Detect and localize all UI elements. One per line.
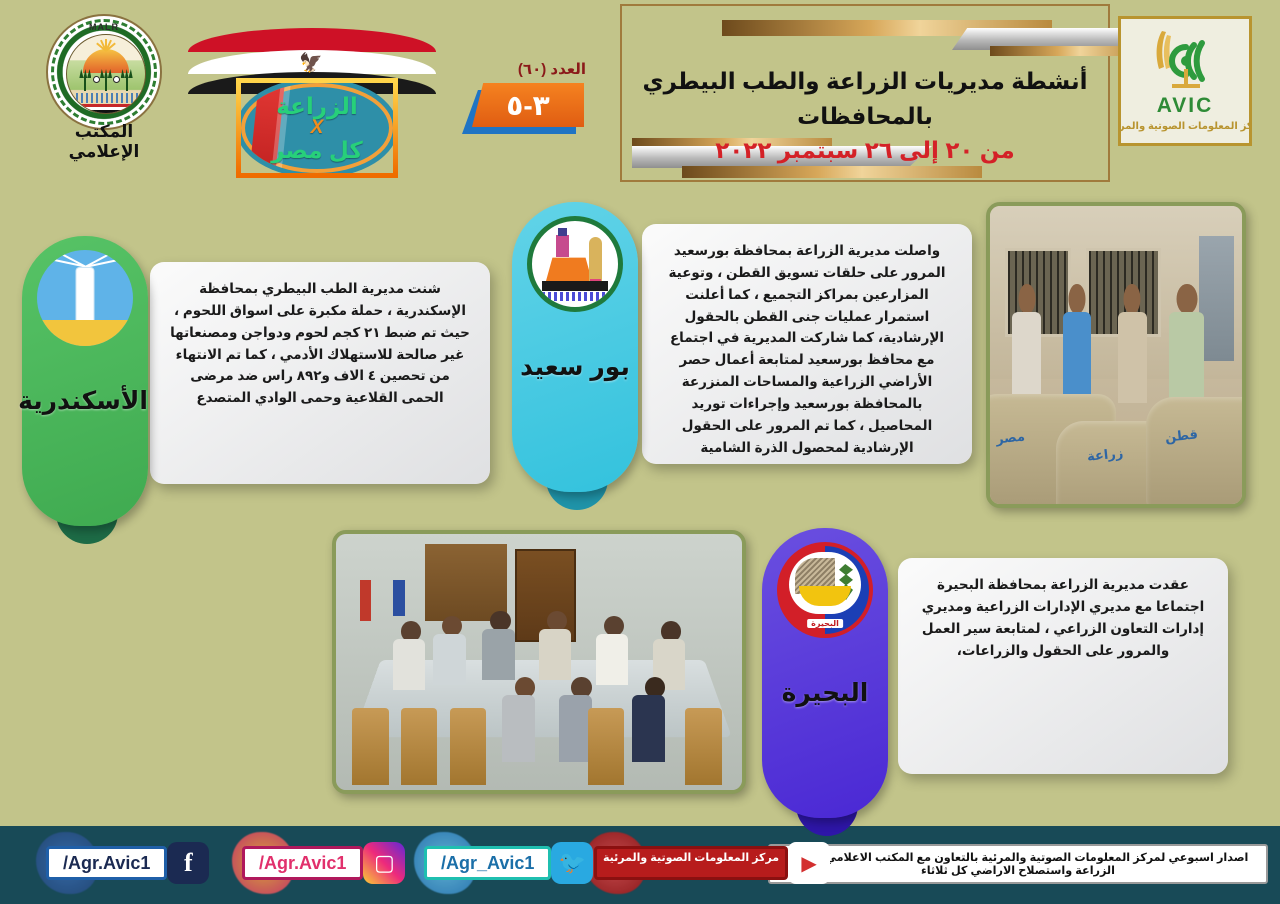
- gold-bar-decoration: [682, 166, 982, 178]
- title-line-main: أنشطة مديريات الزراعة والطب البيطري بالم…: [636, 64, 1094, 133]
- facebook-icon[interactable]: f: [167, 842, 209, 884]
- attendee-figure: [596, 634, 628, 685]
- person-figure: [1061, 284, 1094, 403]
- crest-label: البحيرة: [807, 619, 843, 628]
- social-link-youtube[interactable]: ▶ مركز المعلومات الصوتية والمرئية: [600, 840, 830, 886]
- flag-red-stripe: [188, 28, 436, 52]
- youtube-icon[interactable]: ▶: [788, 842, 830, 884]
- bale-marking: زراعة: [1086, 445, 1124, 465]
- card-body: عقدت مديرية الزراعة بمحافظة البحيرة اجتم…: [898, 558, 1228, 774]
- twitter-icon[interactable]: 🐦: [551, 842, 593, 884]
- desk-flag-icon: [393, 580, 405, 616]
- cotton-boll-icon: [93, 76, 100, 83]
- malr-seal-text: MALR: [48, 22, 160, 32]
- sand-icon: [37, 320, 133, 346]
- globe-top-label: الزراعة: [276, 94, 358, 118]
- eagle-icon: 🦅: [301, 52, 323, 76]
- social-link-instagram[interactable]: ▢ /Agr.Avic1: [248, 840, 405, 886]
- facebook-handle[interactable]: /Agr.Avic1: [46, 846, 167, 880]
- card-text: شنت مديرية الطب البيطري بمحافظة الإسكندر…: [150, 262, 490, 425]
- wood-panel: [425, 544, 506, 621]
- social-link-twitter[interactable]: 🐦 /Agr_Avic1: [430, 840, 593, 886]
- card-pill: البحيرة البحيرة: [762, 528, 888, 818]
- port-tower-icon: [556, 235, 569, 257]
- chair-icon: [685, 708, 722, 785]
- footer-bar: f /Agr.Avic1 ▢ /Agr.Avic1 🐦 /Agr_Avic1 ▶…: [0, 826, 1280, 904]
- social-link-facebook[interactable]: f /Agr.Avic1: [52, 840, 209, 886]
- person-figure: [1116, 284, 1149, 403]
- port-bridge-icon: [527, 216, 623, 312]
- media-office-label: المكتب الإعلامي: [38, 122, 170, 162]
- youtube-handle[interactable]: مركز المعلومات الصوتية والمرئية: [594, 846, 788, 880]
- governorate-name: البحيرة: [762, 678, 888, 708]
- chair-icon: [352, 708, 389, 785]
- twitter-handle[interactable]: /Agr_Avic1: [424, 846, 551, 880]
- card-text: واصلت مديرية الزراعة بمحافظة بورسعيد الم…: [642, 224, 972, 475]
- bridge-icon: [542, 281, 608, 291]
- issue-badge: ٣-٥: [472, 83, 584, 127]
- broadcast-dish-icon: [1142, 25, 1228, 97]
- governorate-card-alexandria[interactable]: الأسكندرية شنت مديرية الطب البيطري بمحاف…: [22, 236, 492, 526]
- globe-x-label: X: [311, 118, 324, 138]
- bale-marking: مصر: [995, 428, 1025, 447]
- card-pill: الأسكندرية: [22, 236, 148, 526]
- chair-icon: [401, 708, 438, 785]
- water-icon: [73, 93, 139, 103]
- title-line-daterange: من ٢٠ إلى ٢٦ سبتمبر ٢٠٢٢: [636, 133, 1094, 168]
- governorate-card-portsaid[interactable]: بور سعيد واصلت مديرية الزراعة بمحافظة بو…: [512, 202, 982, 492]
- header: MALR: [0, 0, 1280, 196]
- port-building-icon: [546, 251, 592, 281]
- attendee-figure: [433, 634, 465, 685]
- instagram-icon[interactable]: ▢: [363, 842, 405, 884]
- instagram-handle[interactable]: /Agr.Avic1: [242, 846, 363, 880]
- attendee-figure: [502, 695, 534, 762]
- malr-seal-icon: MALR: [46, 14, 162, 130]
- governorate-name: الأسكندرية: [22, 386, 148, 416]
- footer-note: اصدار اسبوعي لمركز المعلومات الصوتية وال…: [768, 844, 1268, 884]
- photo-cotton-inspection: مصر زراعة قطن: [986, 202, 1246, 508]
- chair-icon: [588, 708, 625, 785]
- cotton-plants-icon: [75, 65, 137, 91]
- issue-number-block: العدد (٦٠) ٣-٥: [458, 60, 588, 150]
- governorate-card-beheira[interactable]: البحيرة البحيرة عقدت مديرية الزراعة بمحا…: [762, 528, 1234, 818]
- issue-label: العدد (٦٠): [518, 60, 586, 78]
- chair-icon: [450, 708, 487, 785]
- title-frame: أنشطة مديريات الزراعة والطب البيطري بالم…: [620, 4, 1110, 182]
- cotton-bale: قطن: [1146, 397, 1246, 508]
- avic-name-ar: مركز المعلومات الصوتية والمرئية: [1118, 121, 1252, 132]
- port-obelisk-icon: [589, 237, 602, 281]
- bale-marking: قطن: [1164, 427, 1198, 446]
- beheira-crest-icon: البحيرة: [777, 542, 873, 638]
- page-title: أنشطة مديريات الزراعة والطب البيطري بالم…: [636, 64, 1094, 168]
- attendee-figure: [559, 695, 591, 762]
- water-icon: [542, 292, 608, 301]
- campaign-globe-logo: الزراعة X كل مصر: [236, 78, 398, 178]
- crest-bowl-icon: [789, 552, 861, 614]
- person-figure: [1166, 284, 1206, 403]
- ministry-logo: MALR: [38, 12, 170, 162]
- newsletter-page: MALR: [0, 0, 1280, 904]
- attendee-figure: [632, 695, 664, 762]
- desk-flag-icon: [360, 580, 370, 621]
- card-body: شنت مديرية الطب البيطري بمحافظة الإسكندر…: [150, 262, 490, 484]
- crest-yellow-icon: [799, 586, 851, 606]
- attendee-figure: [482, 629, 514, 680]
- door-icon: [515, 549, 576, 641]
- avic-name-en: AVIC: [1157, 95, 1214, 116]
- governorate-name: بور سعيد: [512, 352, 638, 382]
- card-pill: بور سعيد: [512, 202, 638, 492]
- cotton-boll-icon: [113, 76, 120, 83]
- lighthouse-icon: [37, 250, 133, 346]
- attendee-figure: [393, 639, 425, 690]
- malr-inner-scene: [66, 34, 146, 114]
- globe-bottom-label: كل مصر: [271, 138, 363, 162]
- card-text: عقدت مديرية الزراعة بمحافظة البحيرة اجتم…: [898, 558, 1228, 677]
- attendee-figure: [539, 629, 571, 680]
- person-figure: [1010, 284, 1043, 403]
- flag-base-icon: [67, 104, 145, 113]
- photo-directorate-meeting: [332, 530, 746, 794]
- avic-logo: AVIC مركز المعلومات الصوتية والمرئية: [1118, 16, 1252, 146]
- card-body: واصلت مديرية الزراعة بمحافظة بورسعيد الم…: [642, 224, 972, 464]
